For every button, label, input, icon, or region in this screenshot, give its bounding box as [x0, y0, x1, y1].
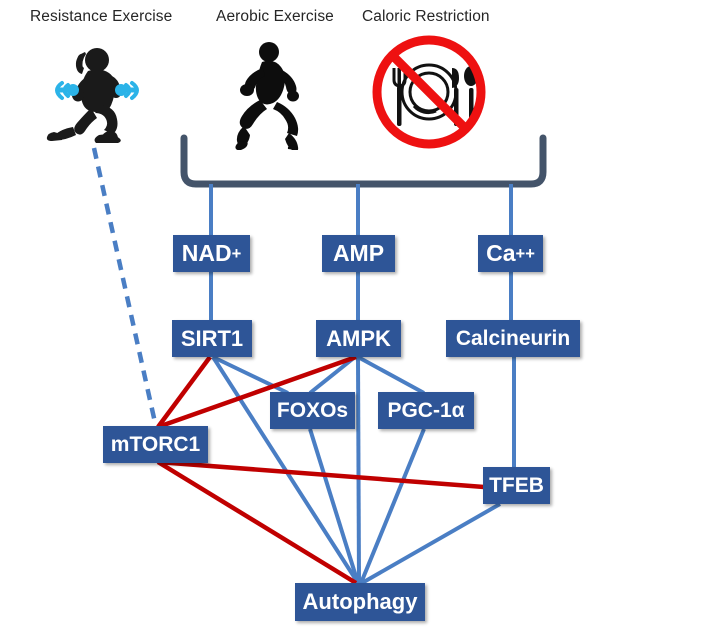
node-label: PGC-1α: [387, 400, 464, 421]
node-label: AMPK: [326, 328, 391, 350]
node-calcineurin[interactable]: Calcineurin: [446, 320, 580, 357]
edge-ampk-pgc1a: [358, 357, 424, 393]
edge-tfeb-autophagy: [362, 504, 500, 583]
node-ca[interactable]: Ca++: [478, 235, 543, 272]
node-label: NAD: [182, 242, 232, 265]
node-label: AMP: [333, 242, 384, 265]
weightlifter-icon: [44, 38, 154, 144]
stimulus-label-aerobic: Aerobic Exercise: [216, 8, 334, 26]
node-tfeb[interactable]: TFEB: [483, 467, 550, 504]
edge-ampk-foxos: [310, 357, 355, 393]
stimulus-label-caloric: Caloric Restriction: [362, 8, 490, 26]
node-foxos[interactable]: FOXOs: [270, 392, 355, 429]
node-label: Ca: [486, 242, 515, 265]
node-ampk[interactable]: AMPK: [316, 320, 401, 357]
node-label: FOXOs: [277, 400, 348, 421]
edge-ampk-autophagy: [358, 357, 359, 583]
no-food-icon: [368, 30, 490, 150]
edge-pgc1a-autophagy: [361, 429, 424, 583]
edge-resistance-mtorc1: [94, 148, 156, 427]
node-amp[interactable]: AMP: [322, 235, 395, 272]
node-label: Calcineurin: [456, 328, 570, 349]
node-autophagy[interactable]: Autophagy: [295, 583, 425, 621]
node-nad[interactable]: NAD+: [173, 235, 250, 272]
node-label: mTORC1: [111, 434, 200, 455]
node-label: TFEB: [489, 475, 544, 496]
stimulus-label-resistance: Resistance Exercise: [30, 8, 172, 26]
node-sirt1[interactable]: SIRT1: [172, 320, 252, 357]
runner-icon: [224, 38, 322, 150]
pathway-diagram: Resistance Exercise Aerobic Exercise Cal…: [0, 0, 718, 632]
node-label: Autophagy: [303, 591, 418, 613]
node-pgc1a[interactable]: PGC-1α: [378, 392, 474, 429]
node-mtorc1[interactable]: mTORC1: [103, 426, 208, 463]
node-label: SIRT1: [181, 328, 243, 350]
